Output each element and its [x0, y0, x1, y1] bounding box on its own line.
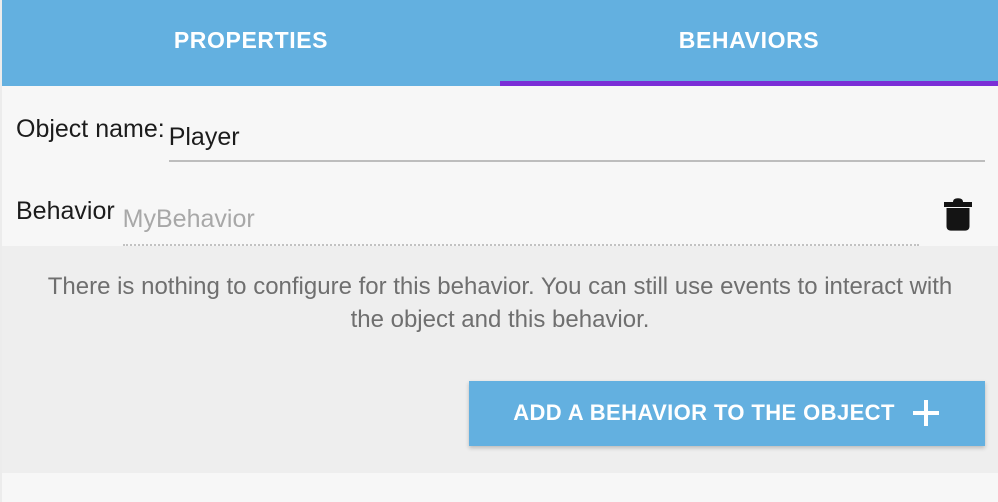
tab-behaviors-label: BEHAVIORS — [679, 29, 819, 58]
behavior-name-input[interactable]: MyBehavior — [123, 207, 919, 246]
behavior-config-panel: There is nothing to configure for this b… — [2, 246, 998, 473]
delete-behavior-button[interactable] — [931, 188, 985, 242]
add-behavior-button-label: ADD A BEHAVIOR TO THE OBJECT — [513, 400, 895, 426]
behavior-name-placeholder: MyBehavior — [123, 207, 919, 232]
add-behavior-button[interactable]: ADD A BEHAVIOR TO THE OBJECT — [469, 381, 985, 446]
object-name-row: Object name: Player — [2, 86, 998, 162]
panel-action-row: ADD A BEHAVIOR TO THE OBJECT — [2, 381, 985, 446]
tab-bar: PROPERTIES BEHAVIORS — [2, 0, 998, 86]
behavior-row: Behavior MyBehavior — [2, 162, 998, 246]
object-name-value: Player — [169, 125, 985, 150]
tab-properties[interactable]: PROPERTIES — [2, 0, 500, 86]
plus-icon — [911, 398, 941, 428]
empty-config-message: There is nothing to configure for this b… — [2, 246, 998, 336]
fields-section: Object name: Player Behavior MyBehavior — [2, 86, 998, 246]
tab-properties-label: PROPERTIES — [174, 29, 328, 58]
object-name-input[interactable]: Player — [169, 125, 985, 162]
tab-behaviors[interactable]: BEHAVIORS — [500, 0, 998, 86]
behaviors-editor-panel: PROPERTIES BEHAVIORS Object name: Player… — [0, 0, 998, 502]
trash-icon — [941, 196, 975, 234]
behavior-label: Behavior — [16, 199, 115, 246]
object-name-label: Object name: — [16, 117, 165, 162]
